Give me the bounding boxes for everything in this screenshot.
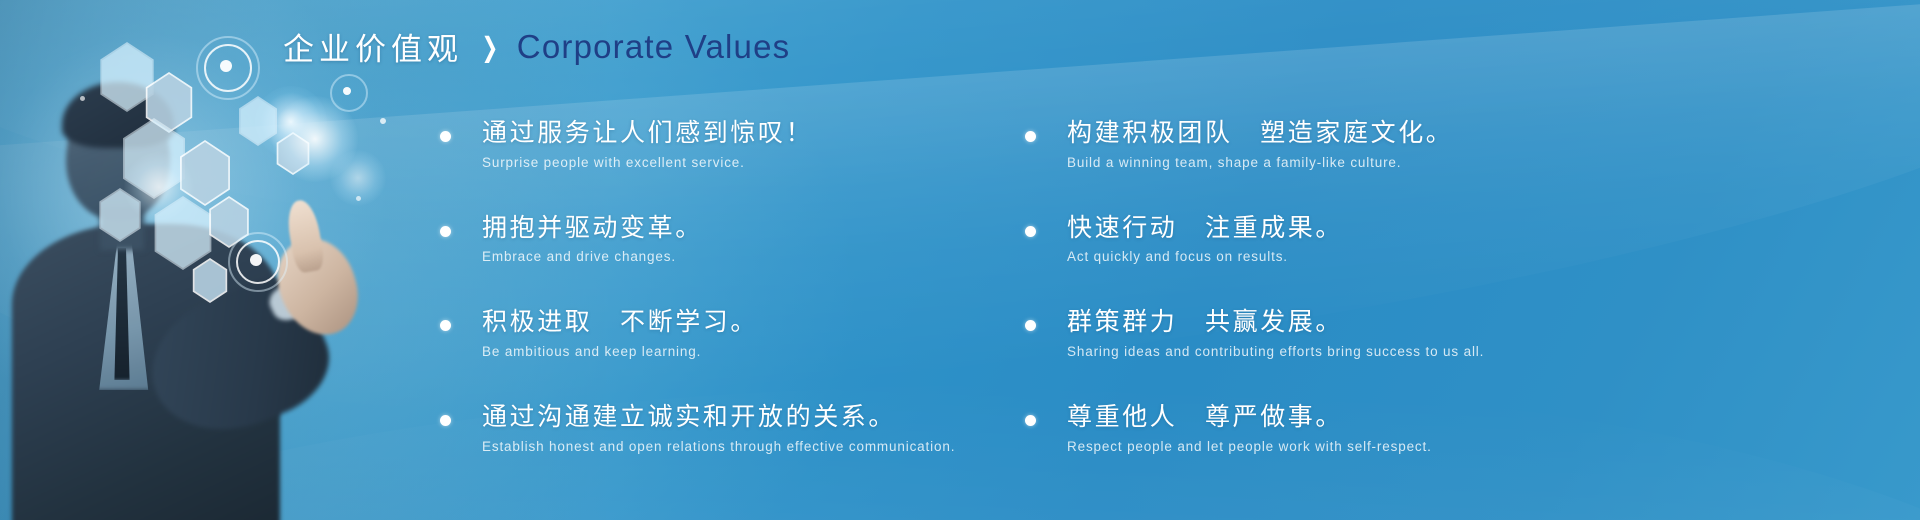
node-dot: [80, 96, 85, 101]
list-item: 通过服务让人们感到惊叹！ Surprise people with excell…: [440, 118, 1080, 172]
corporate-values-banner: 企业价值观 ❯ Corporate Values 通过服务让人们感到惊叹！ Su…: [0, 0, 1920, 520]
bullet-icon: [440, 226, 451, 237]
page-title: 企业价值观 ❯ Corporate Values: [283, 24, 790, 69]
value-title-cn: 积极进取 不断学习。: [482, 307, 1080, 338]
values-column-left: 通过服务让人们感到惊叹！ Surprise people with excell…: [440, 118, 1080, 497]
list-item: 群策群力 共赢发展。 Sharing ideas and contributin…: [1025, 307, 1855, 361]
bullet-icon: [1025, 320, 1036, 331]
value-subtitle-en: Establish honest and open relations thro…: [482, 438, 1080, 456]
value-title-cn: 构建积极团队 塑造家庭文化。: [1067, 118, 1855, 149]
value-title-cn: 群策群力 共赢发展。: [1067, 307, 1855, 338]
bullet-icon: [440, 320, 451, 331]
value-subtitle-en: Embrace and drive changes.: [482, 248, 1080, 266]
bullet-icon: [440, 131, 451, 142]
node-dot: [343, 87, 351, 95]
value-title-cn: 通过服务让人们感到惊叹！: [482, 118, 1080, 149]
bullet-icon: [1025, 415, 1036, 426]
list-item: 快速行动 注重成果。 Act quickly and focus on resu…: [1025, 213, 1855, 267]
ring-center-dot: [220, 60, 232, 72]
list-item: 尊重他人 尊严做事。 Respect people and let people…: [1025, 402, 1855, 456]
businessman-photo: [0, 0, 430, 520]
value-subtitle-en: Be ambitious and keep learning.: [482, 343, 1080, 361]
node-dot: [380, 118, 386, 124]
value-subtitle-en: Respect people and let people work with …: [1067, 438, 1855, 456]
page-title-chinese: 企业价值观: [283, 24, 463, 69]
value-title-cn: 通过沟通建立诚实和开放的关系。: [482, 402, 1080, 433]
value-title-cn: 快速行动 注重成果。: [1067, 213, 1855, 244]
list-item: 积极进取 不断学习。 Be ambitious and keep learnin…: [440, 307, 1080, 361]
value-subtitle-en: Sharing ideas and contributing efforts b…: [1067, 343, 1855, 361]
value-subtitle-en: Act quickly and focus on results.: [1067, 248, 1855, 266]
list-item: 拥抱并驱动变革。 Embrace and drive changes.: [440, 213, 1080, 267]
values-column-right: 构建积极团队 塑造家庭文化。 Build a winning team, sha…: [1025, 118, 1855, 497]
list-item: 通过沟通建立诚实和开放的关系。 Establish honest and ope…: [440, 402, 1080, 456]
value-title-cn: 尊重他人 尊严做事。: [1067, 402, 1855, 433]
page-title-english: Corporate Values: [517, 28, 791, 66]
list-item: 构建积极团队 塑造家庭文化。 Build a winning team, sha…: [1025, 118, 1855, 172]
bullet-icon: [1025, 226, 1036, 237]
node-dot: [356, 196, 361, 201]
bullet-icon: [1025, 131, 1036, 142]
chevron-right-icon: ❯: [481, 33, 498, 60]
ring-center-dot: [250, 254, 262, 266]
bullet-icon: [440, 415, 451, 426]
value-subtitle-en: Build a winning team, shape a family-lik…: [1067, 154, 1855, 172]
light-blob: [124, 152, 194, 222]
value-title-cn: 拥抱并驱动变革。: [482, 213, 1080, 244]
value-subtitle-en: Surprise people with excellent service.: [482, 154, 1080, 172]
